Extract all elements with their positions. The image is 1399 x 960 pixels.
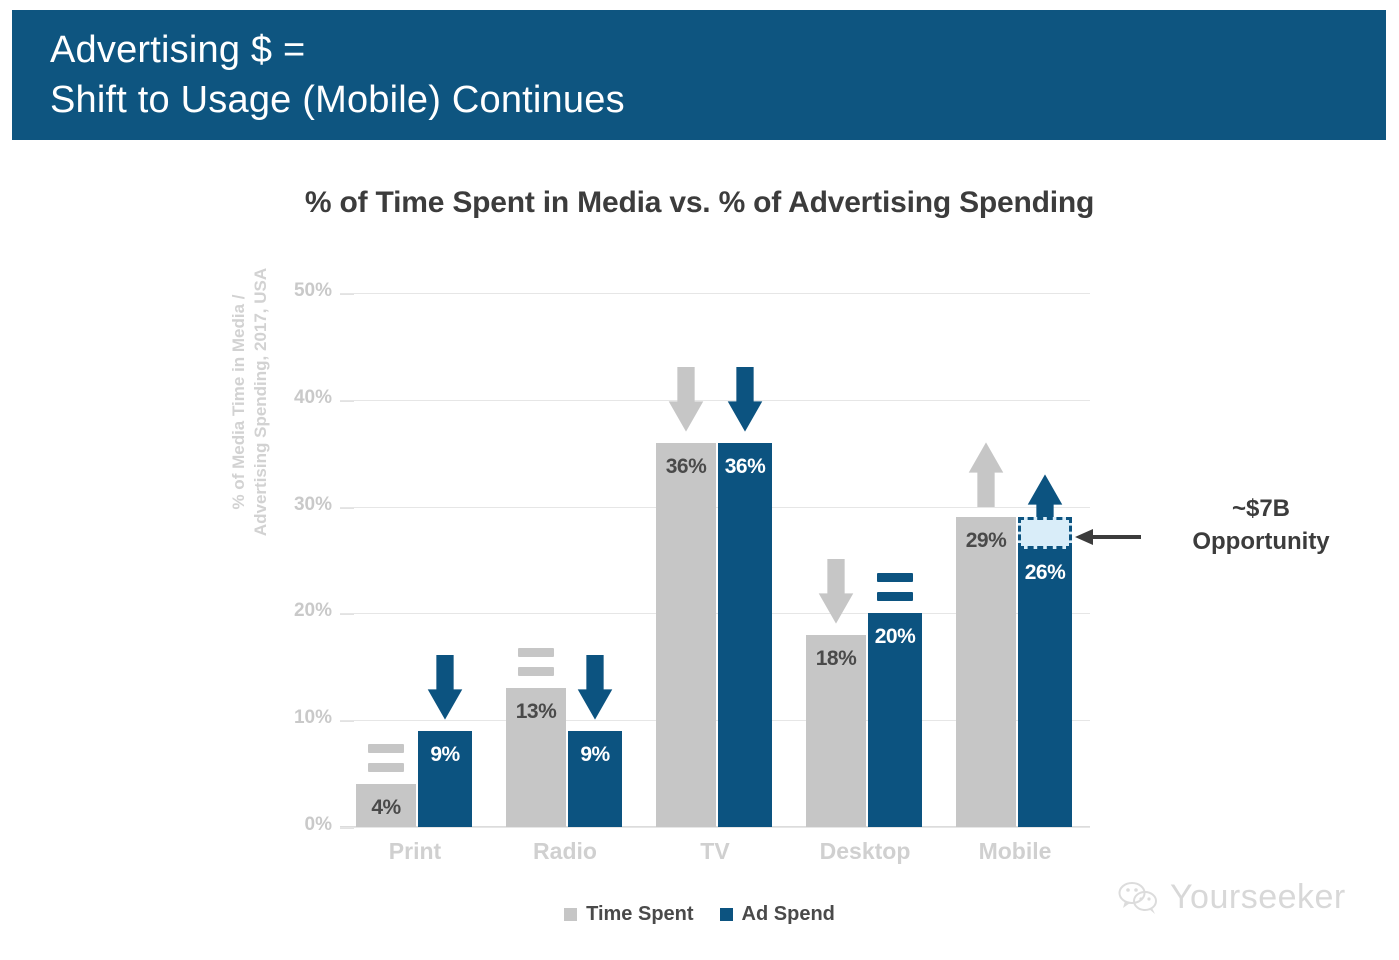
- bar-time-spent-desktop: 18%: [806, 635, 866, 827]
- y-axis-tick-label: 40%: [262, 387, 332, 409]
- trend-down-arrow-icon: [668, 367, 704, 433]
- legend-swatch: [720, 908, 733, 921]
- equal-bar: [518, 667, 554, 676]
- y-axis-ticks: 50%40%30%20%10%0%: [262, 293, 340, 827]
- bar-value-label: 36%: [718, 455, 772, 479]
- trend-equal-icon: [368, 744, 404, 774]
- opportunity-label: Opportunity: [1146, 525, 1376, 558]
- bar-ad-spend-radio: 9%: [568, 731, 622, 827]
- opportunity-annotation: ~$7B Opportunity: [1146, 492, 1376, 558]
- equal-bar: [877, 592, 913, 601]
- y-axis-title-holder: % of Media Time in Media / Advertising S…: [198, 330, 258, 700]
- header-title-line1: Advertising $ =: [50, 25, 1386, 75]
- bar-value-label: 18%: [806, 647, 866, 671]
- legend-item: Time Spent: [564, 903, 693, 926]
- x-axis-label-radio: Radio: [490, 838, 640, 865]
- legend-swatch: [564, 908, 577, 921]
- trend-down-arrow-icon: [427, 655, 463, 721]
- x-axis-label-tv: TV: [640, 838, 790, 865]
- y-axis-tick-label: 0%: [262, 814, 332, 836]
- bar-value-label: 13%: [506, 700, 566, 724]
- bar-value-label: 4%: [356, 796, 416, 820]
- y-axis-tick-label: 10%: [262, 707, 332, 729]
- y-axis-tick-label: 50%: [262, 280, 332, 302]
- equal-bar: [368, 744, 404, 753]
- bar-value-label: 36%: [656, 455, 716, 479]
- bar-ad-spend-print: 9%: [418, 731, 472, 827]
- y-axis-tick-label: 20%: [262, 600, 332, 622]
- x-axis-label-desktop: Desktop: [790, 838, 940, 865]
- opportunity-arrow-icon: [1075, 528, 1141, 546]
- x-axis-label-print: Print: [340, 838, 490, 865]
- bar-group-radio: 13%9%: [490, 293, 640, 827]
- opportunity-amount: ~$7B: [1146, 492, 1376, 525]
- wechat-icon: [1118, 881, 1160, 915]
- y-axis-tick-label: 30%: [262, 494, 332, 516]
- watermark-label: Yourseeker: [1170, 878, 1346, 917]
- bar-value-label: 9%: [418, 743, 472, 767]
- x-axis-label-mobile: Mobile: [940, 838, 1090, 865]
- bar-group-print: 4%9%: [340, 293, 490, 827]
- trend-down-arrow-icon: [727, 367, 763, 433]
- bar-group-desktop: 18%20%: [790, 293, 940, 827]
- trend-up-arrow-icon: [968, 441, 1004, 507]
- equal-bar: [368, 763, 404, 772]
- bar-group-mobile: 29%26%: [940, 293, 1090, 827]
- watermark: Yourseeker: [1118, 878, 1346, 917]
- bar-value-label: 26%: [1018, 561, 1072, 585]
- trend-down-arrow-icon: [818, 559, 854, 625]
- chart-title: % of Time Spent in Media vs. % of Advert…: [0, 186, 1399, 220]
- bar-value-label: 9%: [568, 743, 622, 767]
- opportunity-box: [1018, 517, 1072, 549]
- bar-time-spent-radio: 13%: [506, 688, 566, 827]
- bar-group-tv: 36%36%: [640, 293, 790, 827]
- equal-bar: [518, 648, 554, 657]
- x-axis-labels: PrintRadioTVDesktopMobile: [340, 838, 1090, 872]
- bar-value-label: 20%: [868, 625, 922, 649]
- legend-label: Time Spent: [586, 903, 693, 926]
- bar-time-spent-tv: 36%: [656, 443, 716, 827]
- header-banner: Advertising $ = Shift to Usage (Mobile) …: [12, 10, 1386, 140]
- trend-down-arrow-icon: [577, 655, 613, 721]
- trend-equal-icon: [518, 648, 554, 678]
- bar-value-label: 29%: [956, 529, 1016, 553]
- header-title-line2: Shift to Usage (Mobile) Continues: [50, 75, 1386, 125]
- legend-label: Ad Spend: [742, 903, 835, 926]
- trend-equal-icon: [877, 573, 913, 603]
- bar-time-spent-print: 4%: [356, 784, 416, 827]
- legend-item: Ad Spend: [720, 903, 835, 926]
- plot-area: 4%9%13%9%36%36%18%20%29%26%: [340, 293, 1090, 827]
- equal-bar: [877, 573, 913, 582]
- bar-ad-spend-mobile: 26%: [1018, 549, 1072, 827]
- bar-ad-spend-tv: 36%: [718, 443, 772, 827]
- bar-time-spent-mobile: 29%: [956, 517, 1016, 827]
- gridline: [340, 827, 1090, 828]
- bar-ad-spend-desktop: 20%: [868, 613, 922, 827]
